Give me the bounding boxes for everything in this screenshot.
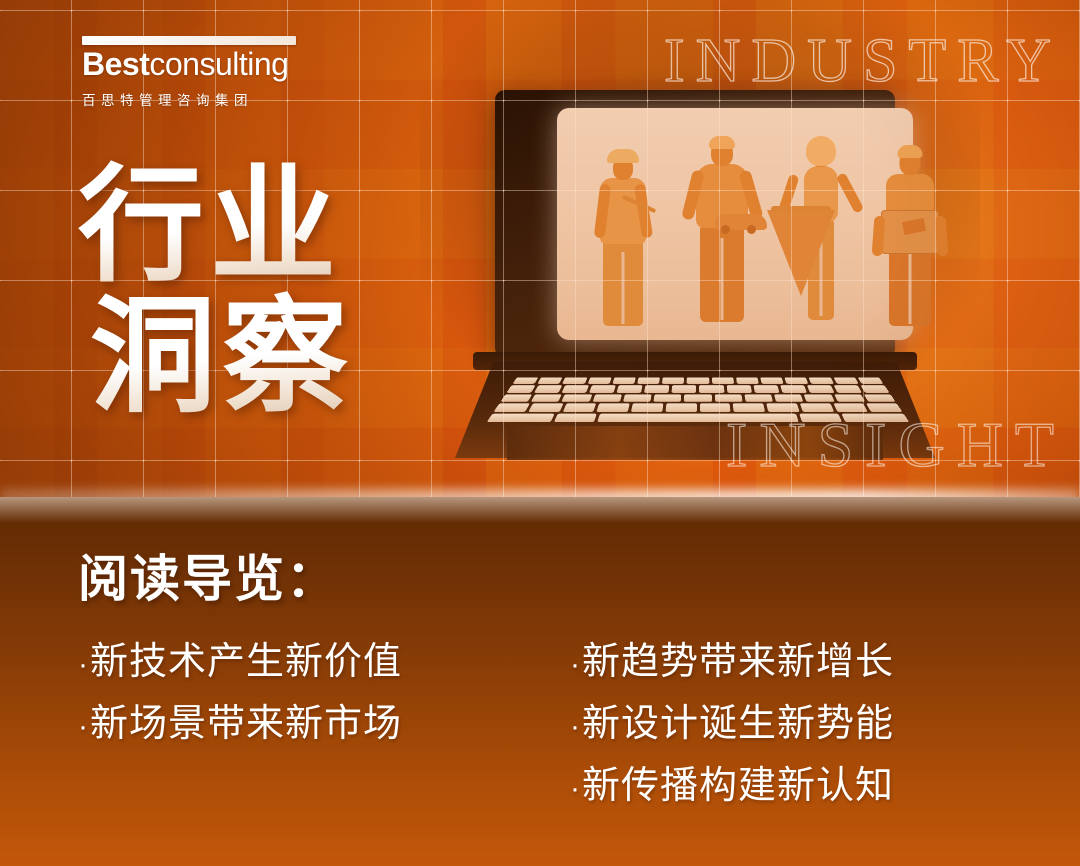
list-item: · 新传播构建新认知 bbox=[570, 767, 894, 805]
section-divider-glow bbox=[0, 489, 1080, 497]
list-item: · 新场景带来新市场 bbox=[78, 705, 402, 743]
poster-canvas: Bestconsulting 百思特管理咨询集团 行业 洞察 INDUSTRY … bbox=[0, 0, 1080, 866]
list-item: · 新技术产生新价值 bbox=[78, 643, 402, 681]
bullet-icon: · bbox=[570, 712, 580, 742]
hero-section: Bestconsulting 百思特管理咨询集团 行业 洞察 INDUSTRY … bbox=[0, 0, 1080, 497]
list-item-label: 新场景带来新市场 bbox=[90, 705, 402, 743]
logo-word-light: consulting bbox=[149, 46, 288, 82]
title-line-2: 洞察 bbox=[90, 291, 354, 422]
bullet-icon: · bbox=[78, 650, 88, 680]
logo-word-bold: Best bbox=[82, 46, 149, 82]
brand-logo: Bestconsulting 百思特管理咨询集团 bbox=[82, 36, 296, 109]
bullet-icon: · bbox=[78, 712, 88, 742]
logo-chinese-name: 百思特管理咨询集团 bbox=[82, 89, 296, 109]
bullet-icon: · bbox=[570, 774, 580, 804]
logo-wordmark: Bestconsulting bbox=[82, 48, 296, 80]
lower-top-sheen bbox=[0, 497, 1080, 523]
list-item-label: 新设计诞生新势能 bbox=[582, 705, 894, 743]
title-line-1: 行业 bbox=[78, 160, 354, 291]
list-item-label: 新技术产生新价值 bbox=[90, 643, 402, 681]
list-item: · 新设计诞生新势能 bbox=[570, 705, 894, 743]
list-item: · 新趋势带来新增长 bbox=[570, 643, 894, 681]
bullet-icon: · bbox=[570, 650, 580, 680]
watermark-insight: INSIGHT bbox=[726, 408, 1066, 482]
page-title: 行业 洞察 bbox=[78, 160, 354, 422]
reading-guide-section: 阅读导览： · 新技术产生新价值 · 新场景带来新市场 · 新趋势带来新增长 bbox=[0, 497, 1080, 866]
guide-column-right: · 新趋势带来新增长 · 新设计诞生新势能 · 新传播构建新认知 bbox=[570, 643, 894, 829]
guide-column-left: · 新技术产生新价值 · 新场景带来新市场 bbox=[78, 643, 402, 767]
list-item-label: 新趋势带来新增长 bbox=[582, 643, 894, 681]
reading-guide-title: 阅读导览： bbox=[78, 539, 338, 611]
logo-bar bbox=[82, 36, 296, 45]
watermark-industry: INDUSTRY bbox=[664, 26, 1062, 97]
list-item-label: 新传播构建新认知 bbox=[582, 767, 894, 805]
